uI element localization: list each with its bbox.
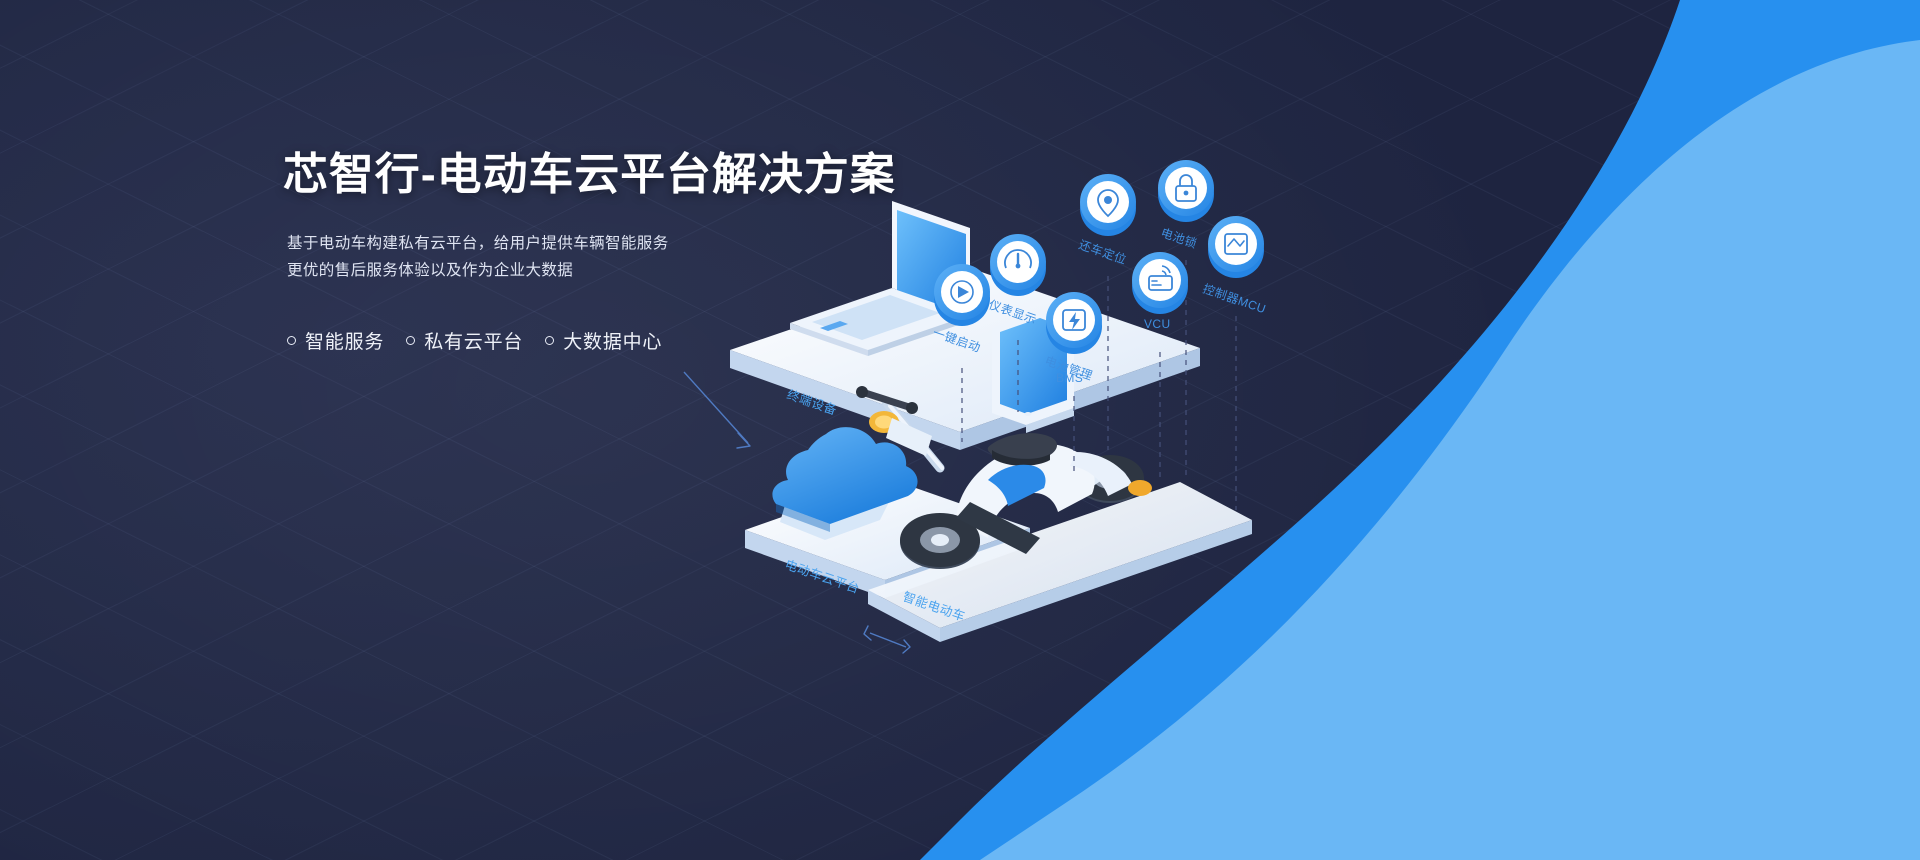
- feature-label-controller-mcu: 控制器MCU: [1201, 282, 1268, 317]
- circle-bullet-icon: [545, 336, 554, 345]
- bullet-label: 私有云平台: [424, 327, 523, 354]
- hero-banner: 芯智行-电动车云平台解决方案 基于电动车构建私有云平台，给用户提供车辆智能服务 …: [0, 0, 1920, 860]
- bullet-item-private-cloud: 私有云平台: [406, 327, 523, 354]
- feature-icon-dashboard-display[interactable]: 仪表显示: [987, 234, 1046, 327]
- feature-label-battery-management-sub: BMS: [1056, 371, 1083, 385]
- feature-icon-battery-lock[interactable]: 电池锁: [1158, 160, 1214, 251]
- feature-label-return-location: 还车定位: [1077, 237, 1129, 267]
- circle-bullet-icon: [406, 336, 415, 345]
- feature-icon-controller-mcu[interactable]: 控制器MCU: [1201, 216, 1268, 316]
- feature-label-battery-lock: 电池锁: [1159, 225, 1199, 251]
- feature-icon-one-key-start[interactable]: 一键启动: [931, 264, 990, 355]
- arrow-terminal-to-cloud: [684, 372, 748, 443]
- arrow-cloud-to-vehicle: [870, 633, 906, 647]
- feature-label-vcu: VCU: [1144, 317, 1171, 331]
- circle-bullet-icon: [287, 336, 296, 345]
- isometric-illustration: 终端设备 电动车云平台: [640, 150, 1920, 860]
- feature-icon-return-location[interactable]: 还车定位: [1077, 174, 1136, 267]
- feature-icon-vcu[interactable]: VCU: [1132, 252, 1188, 331]
- bullet-item-smart-service: 智能服务: [287, 327, 384, 354]
- bullet-label: 智能服务: [305, 327, 384, 354]
